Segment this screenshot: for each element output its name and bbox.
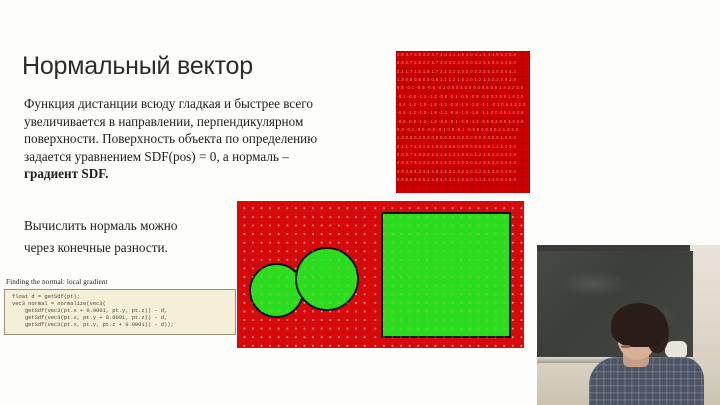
paragraph-line-bold: градиент SDF. xyxy=(24,165,354,183)
chalk-smudge xyxy=(559,271,629,297)
sdf-number-row: 3.6 2.7 2.5 2.3 2.7 3.0 3.2 3.0 3.0 3.2 … xyxy=(396,59,530,67)
sdf-number-rows: 4.8 3.7 3.5 3.3 3.7 4.0 4.1 4.0 4.0 4.1 … xyxy=(396,51,530,185)
circles-figure xyxy=(237,201,368,348)
sdf-number-row: -0.5 -1.2 -1.8 -1.8 -1.2 -0.8 -1.5 -1.8 … xyxy=(396,109,530,117)
speaker-bangs xyxy=(613,308,657,328)
sdf-number-row: 1.3 0.6 0.3 0.3 0.6 0.0 0.5 0.0 0.0 0.5 … xyxy=(396,134,530,142)
sdf-number-row: 1.3 0.6 0.5 0.5 0.6 1.1 1.2 1.0 1.0 1.2 … xyxy=(396,76,530,84)
sdf-number-row: 4.9 4.6 4.3 4.4 3.9 3.5 3.2 3.0 3.0 3.2 … xyxy=(396,168,530,176)
sdf-number-row: -0.4 -1.2 -1.8 -1.8 -1.2 -0.8 -1.5 -1.8 … xyxy=(396,101,530,109)
sdf-number-row: 0.5 -0.1 -0.5 -0.5 -0.1 0.5 0.5 0.0 0.0 … xyxy=(396,84,530,92)
sdf-number-row: 4.0 3.7 3.3 3.3 3.0 2.5 2.2 2.0 2.0 2.2 … xyxy=(396,159,530,167)
code-figure: Finding the normal: local gradient float… xyxy=(4,278,236,335)
sdf-number-row: 5.9 5.6 5.5 5.2 4.8 4.4 4.1 4.0 4.0 4.1 … xyxy=(396,176,530,184)
square-figure xyxy=(368,201,524,348)
page-title: Нормальный вектор xyxy=(22,52,253,81)
sdf-number-row: -0.1 -0.8 -1.2 -1.2 -0.8 -0.1 -0.5 -0.9 … xyxy=(396,93,530,101)
red-dot-field-overlay xyxy=(368,201,524,348)
slide-paragraph-primary: Функция дистанции всюду гладкая и быстре… xyxy=(24,95,354,183)
paragraph-line: поверхности. Поверхность объекта по опре… xyxy=(24,130,354,148)
code-block: float d = getSdf(pt); vec3 normal = norm… xyxy=(4,289,236,335)
sdf-number-row: 2.1 1.7 1.3 1.3 1.6 0.8 0.5 0.5 0.5 0.5 … xyxy=(396,143,530,151)
sdf-number-row: -0.5 -0.8 -1.2 -1.2 -0.8 -0.1 -0.8 -1.2 … xyxy=(396,118,530,126)
paragraph-line: увеличивается в направлении, перпендикул… xyxy=(24,113,354,131)
sdf-number-row: 4.8 3.7 3.5 3.3 3.7 4.0 4.1 4.0 4.0 4.1 … xyxy=(396,51,530,59)
paragraph-line: Функция дистанции всюду гладкая и быстре… xyxy=(24,95,354,113)
sdf-number-row: 0.3 -0.1 -0.5 -0.5 -0.1 0.5 -0.1 -0.5 0.… xyxy=(396,126,530,134)
code-caption: Finding the normal: local gradient xyxy=(6,278,236,286)
speaker-mouth xyxy=(621,345,630,348)
red-dot-field-overlay xyxy=(237,201,368,348)
lecturer-video-feed[interactable] xyxy=(537,245,720,405)
paragraph-line: задается уравнением SDF(pos) = 0, а норм… xyxy=(24,148,354,166)
sdf-number-row: 2.1 1.7 1.5 1.5 1.7 2.1 2.2 2.0 2.0 2.2 … xyxy=(396,68,530,76)
sdf-number-row: 3.0 2.7 2.3 2.3 2.2 1.6 1.2 1.0 1.0 1.2 … xyxy=(396,151,530,159)
sdf-number-grid-figure: 4.8 3.7 3.5 3.3 3.7 4.0 4.1 4.0 4.0 4.1 … xyxy=(396,51,530,193)
speaker-eye xyxy=(621,330,627,333)
